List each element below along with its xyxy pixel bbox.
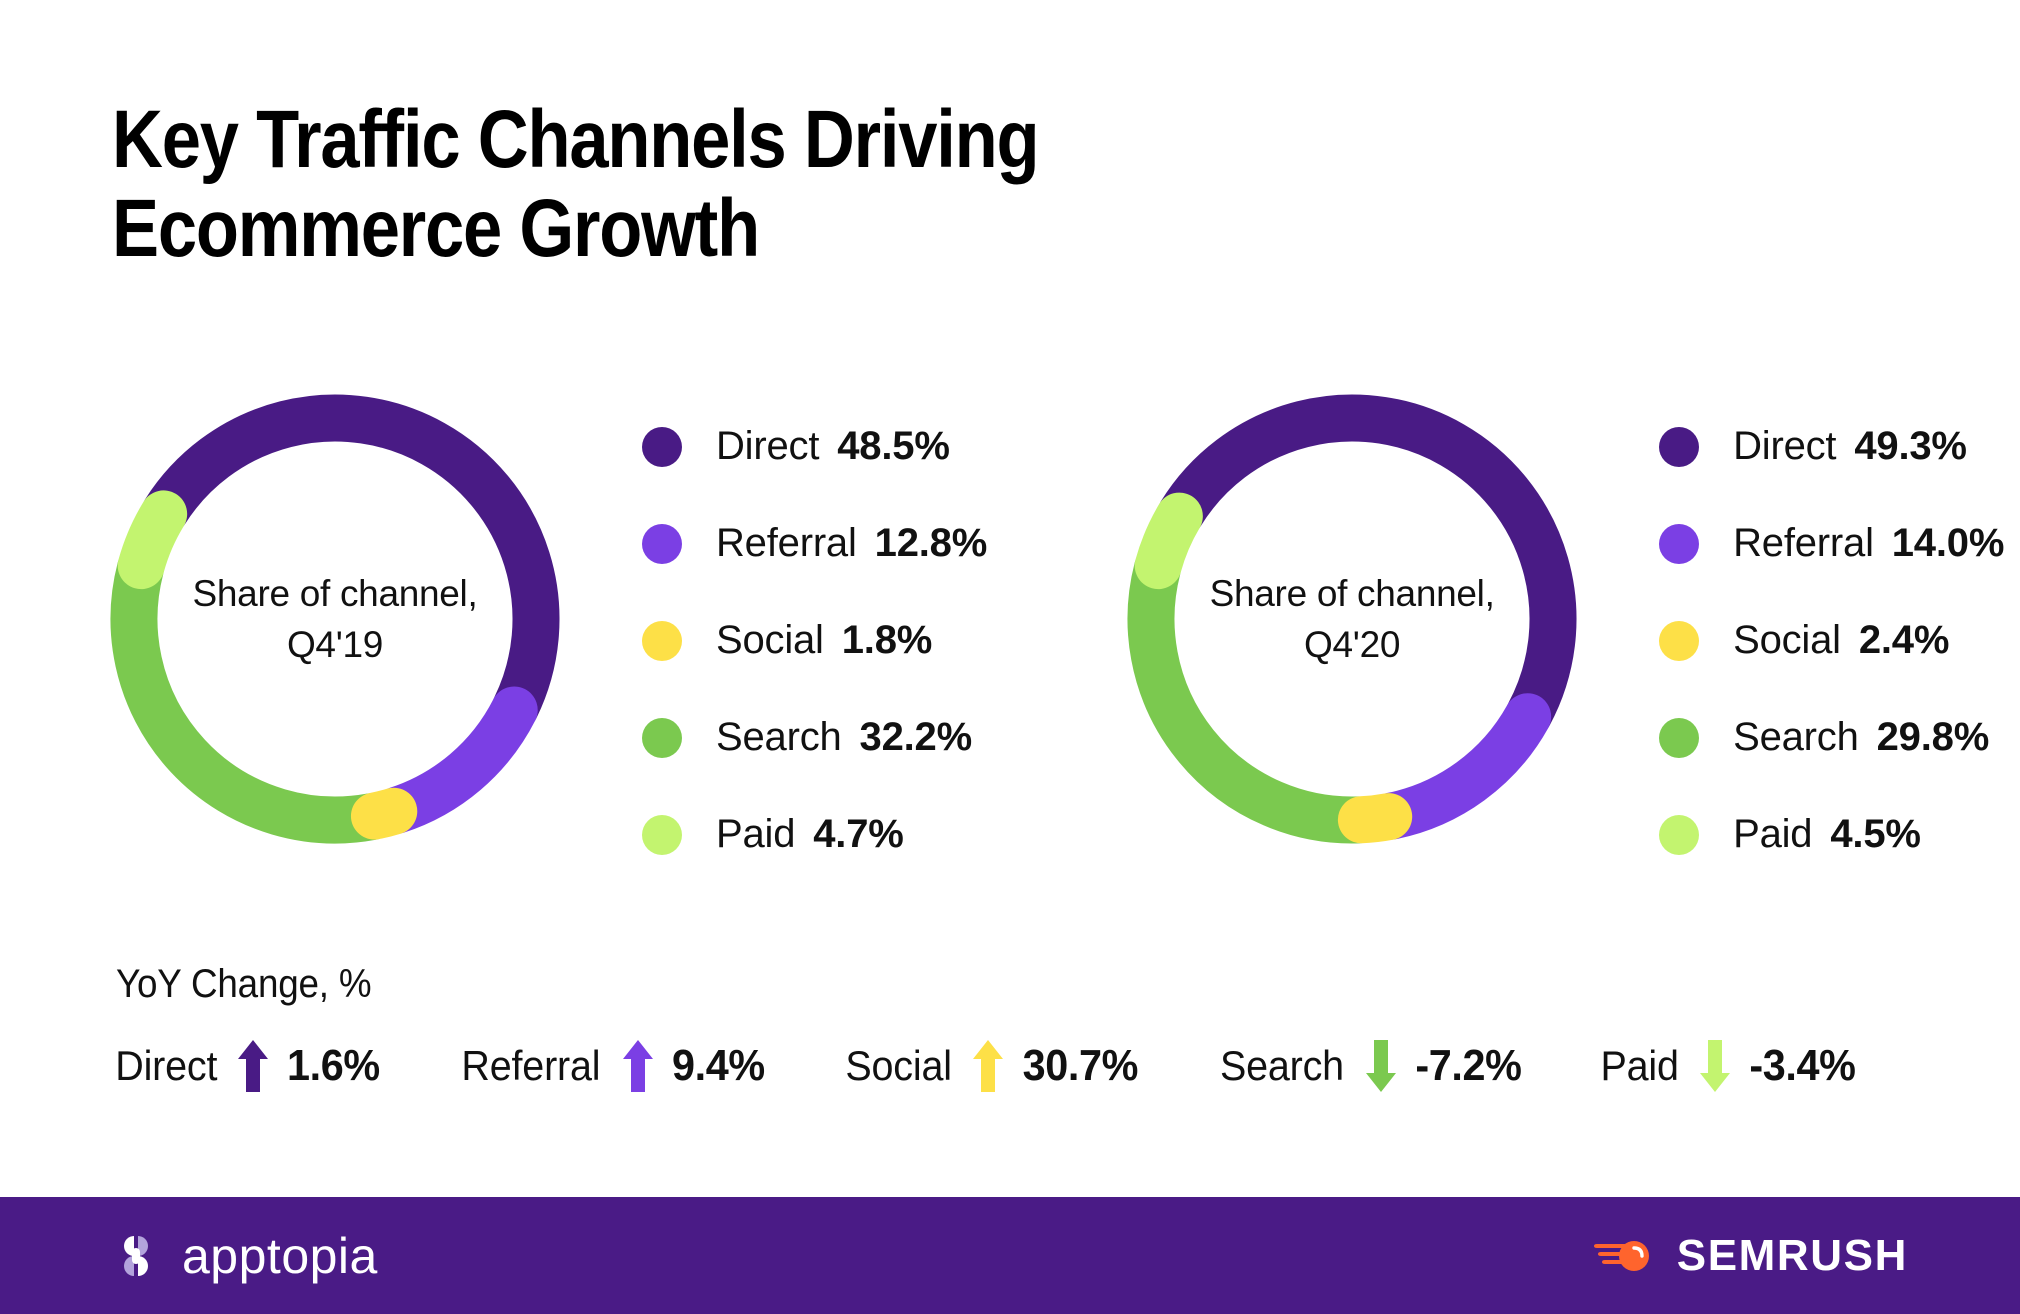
infographic-page: Key Traffic Channels Driving Ecommerce G… <box>0 0 2020 1314</box>
legend-label-search: Search <box>1733 715 1859 760</box>
yoy-label-direct: Direct <box>115 1042 217 1090</box>
arrow-up-icon <box>973 1040 1003 1092</box>
donut-segment-direct <box>165 418 536 707</box>
arrow-down-icon <box>1700 1040 1730 1092</box>
donut-chart-q420: Share of channel, Q4'20 <box>1117 384 1587 854</box>
legend-dot-direct-icon <box>642 427 682 467</box>
donut-segment-social <box>1361 817 1388 820</box>
legend-item-search: Search 29.8% <box>1659 689 2004 786</box>
legend-value-paid: 4.7% <box>813 812 903 857</box>
yoy-value-referral: 9.4% <box>672 1041 765 1091</box>
legend-item-direct: Direct 48.5% <box>642 398 987 495</box>
legend-label-search: Search <box>716 715 842 760</box>
legend-value-direct: 48.5% <box>837 424 949 469</box>
legend-label-direct: Direct <box>1733 424 1836 469</box>
legend-dot-paid-icon <box>1659 815 1699 855</box>
chart-block-q420: Share of channel, Q4'20 Direct 49.3% Ref… <box>1117 384 2004 884</box>
legend-q419: Direct 48.5% Referral 12.8% Social 1.8% … <box>642 398 987 883</box>
legend-dot-direct-icon <box>1659 427 1699 467</box>
legend-item-paid: Paid 4.7% <box>642 786 987 883</box>
charts-row: Share of channel, Q4'19 Direct 48.5% Ref… <box>0 384 2020 884</box>
legend-item-social: Social 2.4% <box>1659 592 2004 689</box>
donut-svg-q419 <box>100 384 570 854</box>
semrush-comet-icon <box>1593 1234 1655 1278</box>
yoy-item-social: Social 30.7% <box>842 1040 1142 1092</box>
legend-label-social: Social <box>1733 618 1841 663</box>
legend-dot-search-icon <box>1659 718 1699 758</box>
legend-item-referral: Referral 14.0% <box>1659 495 2004 592</box>
legend-item-search: Search 32.2% <box>642 689 987 786</box>
yoy-change-title: YoY Change, % <box>116 962 371 1007</box>
donut-segment-search <box>1151 568 1359 820</box>
legend-label-referral: Referral <box>716 521 857 566</box>
yoy-item-direct: Direct 1.6% <box>112 1040 383 1092</box>
donut-segment-referral <box>396 710 514 810</box>
legend-dot-referral-icon <box>642 524 682 564</box>
legend-dot-referral-icon <box>1659 524 1699 564</box>
yoy-label-paid: Paid <box>1601 1042 1679 1090</box>
semrush-wordmark: SEMRUSH <box>1677 1231 1908 1281</box>
legend-item-social: Social 1.8% <box>642 592 987 689</box>
legend-value-paid: 4.5% <box>1830 812 1920 857</box>
yoy-value-search: -7.2% <box>1415 1041 1521 1091</box>
legend-item-direct: Direct 49.3% <box>1659 398 2004 495</box>
donut-segment-paid <box>141 514 163 566</box>
legend-label-paid: Paid <box>1733 812 1812 857</box>
arrow-down-icon <box>1366 1040 1396 1092</box>
yoy-item-paid: Paid -3.4% <box>1598 1040 1858 1092</box>
yoy-label-referral: Referral <box>462 1042 601 1090</box>
apptopia-pinwheel-icon <box>112 1232 160 1280</box>
arrow-up-icon <box>623 1040 653 1092</box>
legend-value-referral: 12.8% <box>875 521 987 566</box>
donut-segment-referral <box>1392 717 1528 816</box>
legend-value-social: 1.8% <box>842 618 932 663</box>
legend-dot-paid-icon <box>642 815 682 855</box>
legend-label-paid: Paid <box>716 812 795 857</box>
legend-value-search: 29.8% <box>1877 715 1989 760</box>
yoy-change-row: Direct 1.6% Referral 9.4% Social 30.7% S… <box>112 1040 1912 1092</box>
page-title: Key Traffic Channels Driving Ecommerce G… <box>112 96 1230 273</box>
legend-dot-social-icon <box>642 621 682 661</box>
legend-item-referral: Referral 12.8% <box>642 495 987 592</box>
semrush-logo: SEMRUSH <box>1593 1231 1908 1281</box>
yoy-value-social: 30.7% <box>1023 1041 1138 1091</box>
legend-dot-search-icon <box>642 718 682 758</box>
yoy-item-referral: Referral 9.4% <box>457 1040 767 1092</box>
legend-item-paid: Paid 4.5% <box>1659 786 2004 883</box>
legend-dot-social-icon <box>1659 621 1699 661</box>
donut-segment-paid <box>1158 516 1179 566</box>
legend-value-referral: 14.0% <box>1892 521 2004 566</box>
apptopia-wordmark: apptopia <box>182 1227 378 1285</box>
yoy-label-search: Search <box>1220 1042 1344 1090</box>
donut-svg-q420 <box>1117 384 1587 854</box>
legend-label-social: Social <box>716 618 824 663</box>
donut-segment-direct <box>1181 418 1553 714</box>
legend-label-direct: Direct <box>716 424 819 469</box>
donut-segment-search <box>134 568 372 820</box>
yoy-value-paid: -3.4% <box>1749 1041 1855 1091</box>
footer-bar: apptopia SEMRUSH <box>0 1197 2020 1314</box>
donut-chart-q419: Share of channel, Q4'19 <box>100 384 570 854</box>
apptopia-logo: apptopia <box>112 1227 378 1285</box>
yoy-item-search: Search -7.2% <box>1216 1040 1525 1092</box>
legend-value-direct: 49.3% <box>1854 424 1966 469</box>
arrow-up-icon <box>238 1040 268 1092</box>
donut-segment-social <box>374 811 393 816</box>
yoy-value-direct: 1.6% <box>287 1041 380 1091</box>
legend-value-search: 32.2% <box>860 715 972 760</box>
legend-q420: Direct 49.3% Referral 14.0% Social 2.4% … <box>1659 398 2004 883</box>
legend-label-referral: Referral <box>1733 521 1874 566</box>
yoy-label-social: Social <box>845 1042 951 1090</box>
chart-block-q419: Share of channel, Q4'19 Direct 48.5% Ref… <box>100 384 987 884</box>
legend-value-social: 2.4% <box>1859 618 1949 663</box>
